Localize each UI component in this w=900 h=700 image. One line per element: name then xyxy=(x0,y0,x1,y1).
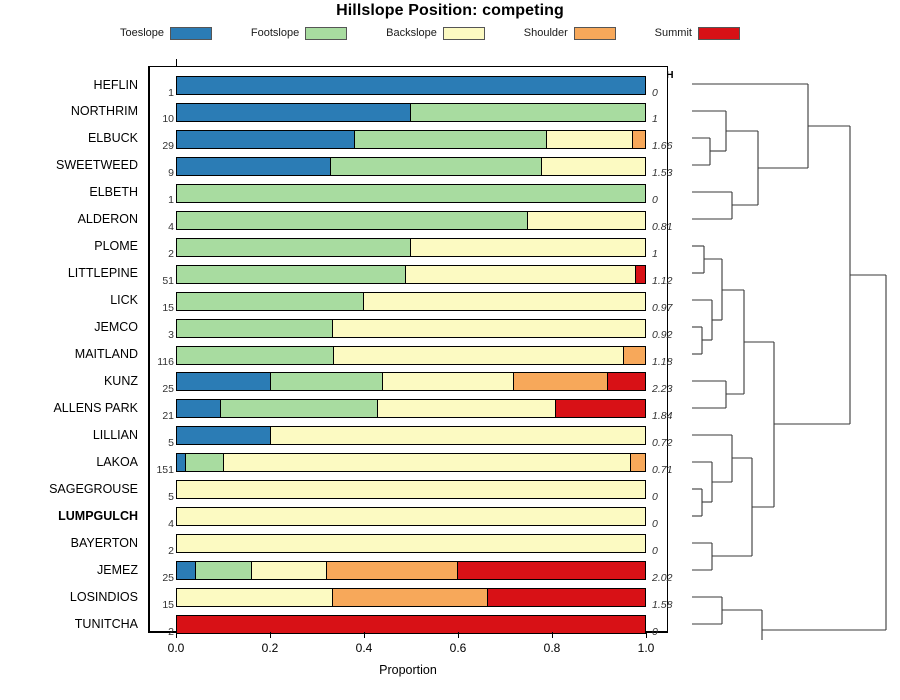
bar-segment-footslope xyxy=(177,212,528,229)
x-axis-label: Proportion xyxy=(148,663,668,677)
bar-segment-summit xyxy=(177,616,645,633)
row-label-jemco[interactable]: JEMCO xyxy=(94,320,138,334)
n-value: 2 xyxy=(148,626,174,638)
x-tick-label: 0.0 xyxy=(156,641,196,655)
bar-segment-backslope xyxy=(411,239,645,256)
stacked-bar[interactable] xyxy=(176,130,646,149)
chart-title: Hillslope Position: competing xyxy=(0,2,900,20)
h-value: 1 xyxy=(652,113,686,125)
stacked-bar[interactable] xyxy=(176,265,646,284)
h-value: 0.72 xyxy=(652,437,686,449)
bar-segment-footslope xyxy=(177,347,334,364)
legend-swatch xyxy=(443,27,485,40)
bar-segment-summit xyxy=(636,266,645,283)
row-label-column: HEFLINNORTHRIMELBUCKSWEETWEEDELBETHALDER… xyxy=(0,66,144,632)
legend-swatch xyxy=(574,27,616,40)
n-value: 21 xyxy=(148,410,174,422)
row-label-sweetweed[interactable]: SWEETWEED xyxy=(56,158,138,172)
row-label-maitland[interactable]: MAITLAND xyxy=(75,347,138,361)
n-value: 15 xyxy=(148,302,174,314)
stacked-bar[interactable] xyxy=(176,561,646,580)
row-label-lakoa[interactable]: LAKOA xyxy=(96,455,138,469)
x-tick-label: 0.4 xyxy=(344,641,384,655)
h-value: 2.23 xyxy=(652,383,686,395)
bar-segment-footslope xyxy=(196,562,252,579)
h-value: 0.92 xyxy=(652,329,686,341)
bar-segment-footslope xyxy=(186,454,223,471)
legend-swatch xyxy=(305,27,347,40)
h-value: 0 xyxy=(652,626,686,638)
stacked-bar[interactable] xyxy=(176,76,646,95)
row-label-elbeth[interactable]: ELBETH xyxy=(89,185,138,199)
stacked-bar[interactable] xyxy=(176,238,646,257)
legend-label: Footslope xyxy=(251,27,299,39)
row-label-tunitcha[interactable]: TUNITCHA xyxy=(75,617,138,631)
h-value: 1.12 xyxy=(652,275,686,287)
legend-label: Summit xyxy=(655,27,692,39)
row-label-heflin[interactable]: HEFLIN xyxy=(94,78,138,92)
x-tick-label: 0.2 xyxy=(250,641,290,655)
bar-segment-footslope xyxy=(331,158,542,175)
bar-segment-toeslope xyxy=(177,427,271,444)
row-label-lick[interactable]: LICK xyxy=(110,293,138,307)
bar-segment-toeslope xyxy=(177,77,645,94)
legend-swatch xyxy=(170,27,212,40)
n-value: 4 xyxy=(148,221,174,233)
bar-segment-backslope xyxy=(334,347,624,364)
bar-segment-backslope xyxy=(177,508,645,525)
row-label-allens-park[interactable]: ALLENS PARK xyxy=(53,401,138,415)
bar-segment-shoulder xyxy=(624,347,645,364)
n-value: 4 xyxy=(148,518,174,530)
h-value: 0 xyxy=(652,491,686,503)
bar-segment-footslope xyxy=(411,104,645,121)
row-label-northrim[interactable]: NORTHRIM xyxy=(71,104,138,118)
h-value: 0.71 xyxy=(652,464,686,476)
h-value: 1.84 xyxy=(652,410,686,422)
n-value: 9 xyxy=(148,167,174,179)
legend-entry-backslope[interactable]: Backslope xyxy=(386,27,485,40)
legend-entry-footslope[interactable]: Footslope xyxy=(251,27,347,40)
bar-segment-backslope xyxy=(177,589,333,606)
stacked-bar[interactable] xyxy=(176,507,646,526)
legend-entry-toeslope[interactable]: Toeslope xyxy=(120,27,212,40)
n-value: 151 xyxy=(148,464,174,476)
n-value: 5 xyxy=(148,491,174,503)
row-label-littlepine[interactable]: LITTLEPINE xyxy=(68,266,138,280)
bar-segment-backslope xyxy=(528,212,645,229)
n-value: 2 xyxy=(148,248,174,260)
bar-segment-backslope xyxy=(177,481,645,498)
stacked-bar[interactable] xyxy=(176,426,646,445)
h-value: 0 xyxy=(652,87,686,99)
bar-segment-footslope xyxy=(177,185,645,202)
bar-segment-footslope xyxy=(271,373,383,390)
bar-segment-toeslope xyxy=(177,400,221,417)
bar-segment-backslope xyxy=(542,158,645,175)
bar-segment-footslope xyxy=(177,239,411,256)
stacked-bar[interactable] xyxy=(176,184,646,203)
row-label-elbuck[interactable]: ELBUCK xyxy=(88,131,138,145)
n-value: 3 xyxy=(148,329,174,341)
row-label-kunz[interactable]: KUNZ xyxy=(104,374,138,388)
h-value: 0 xyxy=(652,518,686,530)
stacked-bar[interactable] xyxy=(176,103,646,122)
stacked-bar[interactable] xyxy=(176,534,646,553)
dendrogram xyxy=(690,60,900,640)
bar-segment-backslope xyxy=(364,293,645,310)
x-tick xyxy=(176,632,177,638)
stacked-bar[interactable] xyxy=(176,480,646,499)
legend-entry-shoulder[interactable]: Shoulder xyxy=(524,27,616,40)
x-tick xyxy=(270,632,271,638)
bar-segment-footslope xyxy=(177,320,333,337)
h-value: 0.81 xyxy=(652,221,686,233)
bar-segment-toeslope xyxy=(177,104,411,121)
bar-segment-backslope xyxy=(383,373,514,390)
h-value: 0.97 xyxy=(652,302,686,314)
h-value: 1.18 xyxy=(652,356,686,368)
x-tick-label: 1.0 xyxy=(626,641,666,655)
legend-entry-summit[interactable]: Summit xyxy=(655,27,740,40)
bar-segment-backslope xyxy=(252,562,327,579)
bar-segment-summit xyxy=(488,589,645,606)
bar-segment-backslope xyxy=(378,400,556,417)
bar-segment-toeslope xyxy=(177,131,355,148)
bar-segment-footslope xyxy=(355,131,547,148)
bar-segment-footslope xyxy=(177,293,364,310)
chart-root: Hillslope Position: competing ToeslopeFo… xyxy=(0,0,900,700)
row-label-plome[interactable]: PLOME xyxy=(94,239,138,253)
h-value: 1.66 xyxy=(652,140,686,152)
stacked-bar[interactable] xyxy=(176,292,646,311)
stacked-bar[interactable] xyxy=(176,588,646,607)
n-value: 116 xyxy=(148,356,174,368)
row-label-alderon[interactable]: ALDERON xyxy=(78,212,138,226)
stacked-bar[interactable] xyxy=(176,319,646,338)
dendrogram-svg xyxy=(690,60,900,640)
h-value: 0 xyxy=(652,545,686,557)
row-label-lumpgulch[interactable]: LUMPGULCH xyxy=(58,509,138,523)
legend-label: Backslope xyxy=(386,27,437,39)
bar-segment-backslope xyxy=(177,535,645,552)
row-label-sagegrouse[interactable]: SAGEGROUSE xyxy=(49,482,138,496)
h-value: 1.58 xyxy=(652,599,686,611)
row-label-losindios[interactable]: LOSINDIOS xyxy=(70,590,138,604)
x-tick-label: 0.8 xyxy=(532,641,572,655)
bar-segment-toeslope xyxy=(177,158,331,175)
row-label-lillian[interactable]: LILLIAN xyxy=(93,428,138,442)
h-value: 0 xyxy=(652,194,686,206)
h-value: 1.53 xyxy=(652,167,686,179)
bar-segment-summit xyxy=(458,562,645,579)
bar-segment-shoulder xyxy=(631,454,645,471)
bar-segment-footslope xyxy=(177,266,406,283)
legend-label: Toeslope xyxy=(120,27,164,39)
x-tick xyxy=(458,632,459,638)
stacked-bar[interactable] xyxy=(176,211,646,230)
x-tick xyxy=(646,632,647,638)
stacked-bar[interactable] xyxy=(176,372,646,391)
stacked-bar[interactable] xyxy=(176,615,646,634)
bar-segment-summit xyxy=(608,373,645,390)
stacked-bar[interactable] xyxy=(176,399,646,418)
stacked-bar[interactable] xyxy=(176,346,646,365)
bar-segment-toeslope xyxy=(177,562,196,579)
row-label-jemez[interactable]: JEMEZ xyxy=(97,563,138,577)
bar-segment-backslope xyxy=(333,320,645,337)
n-value: 10 xyxy=(148,113,174,125)
x-tick-label: 0.6 xyxy=(438,641,478,655)
n-value: 29 xyxy=(148,140,174,152)
bar-segment-shoulder xyxy=(633,131,645,148)
x-tick xyxy=(364,632,365,638)
stacked-bar[interactable] xyxy=(176,157,646,176)
legend: ToeslopeFootslopeBackslopeShoulderSummit xyxy=(120,24,740,42)
top-axis-stub xyxy=(176,59,177,66)
n-value: 15 xyxy=(148,599,174,611)
bar-segment-footslope xyxy=(221,400,378,417)
bar-segment-backslope xyxy=(271,427,645,444)
legend-swatch xyxy=(698,27,740,40)
n-value: 25 xyxy=(148,572,174,584)
bar-segment-shoulder xyxy=(327,562,458,579)
stacked-bar[interactable] xyxy=(176,453,646,472)
n-value: 2 xyxy=(148,545,174,557)
bar-segment-toeslope xyxy=(177,454,186,471)
bar-segment-summit xyxy=(556,400,645,417)
bar-segment-backslope xyxy=(547,131,634,148)
bar-segment-toeslope xyxy=(177,373,271,390)
n-value: 1 xyxy=(148,194,174,206)
n-value: 5 xyxy=(148,437,174,449)
n-value: 25 xyxy=(148,383,174,395)
bar-segment-backslope xyxy=(224,454,631,471)
bar-segment-shoulder xyxy=(514,373,608,390)
row-label-bayerton[interactable]: BAYERTON xyxy=(71,536,138,550)
h-value: 1 xyxy=(652,248,686,260)
h-value: 2.02 xyxy=(652,572,686,584)
n-value: 1 xyxy=(148,87,174,99)
bar-segment-shoulder xyxy=(333,589,488,606)
legend-label: Shoulder xyxy=(524,27,568,39)
x-tick xyxy=(552,632,553,638)
bar-segment-backslope xyxy=(406,266,635,283)
n-value: 51 xyxy=(148,275,174,287)
